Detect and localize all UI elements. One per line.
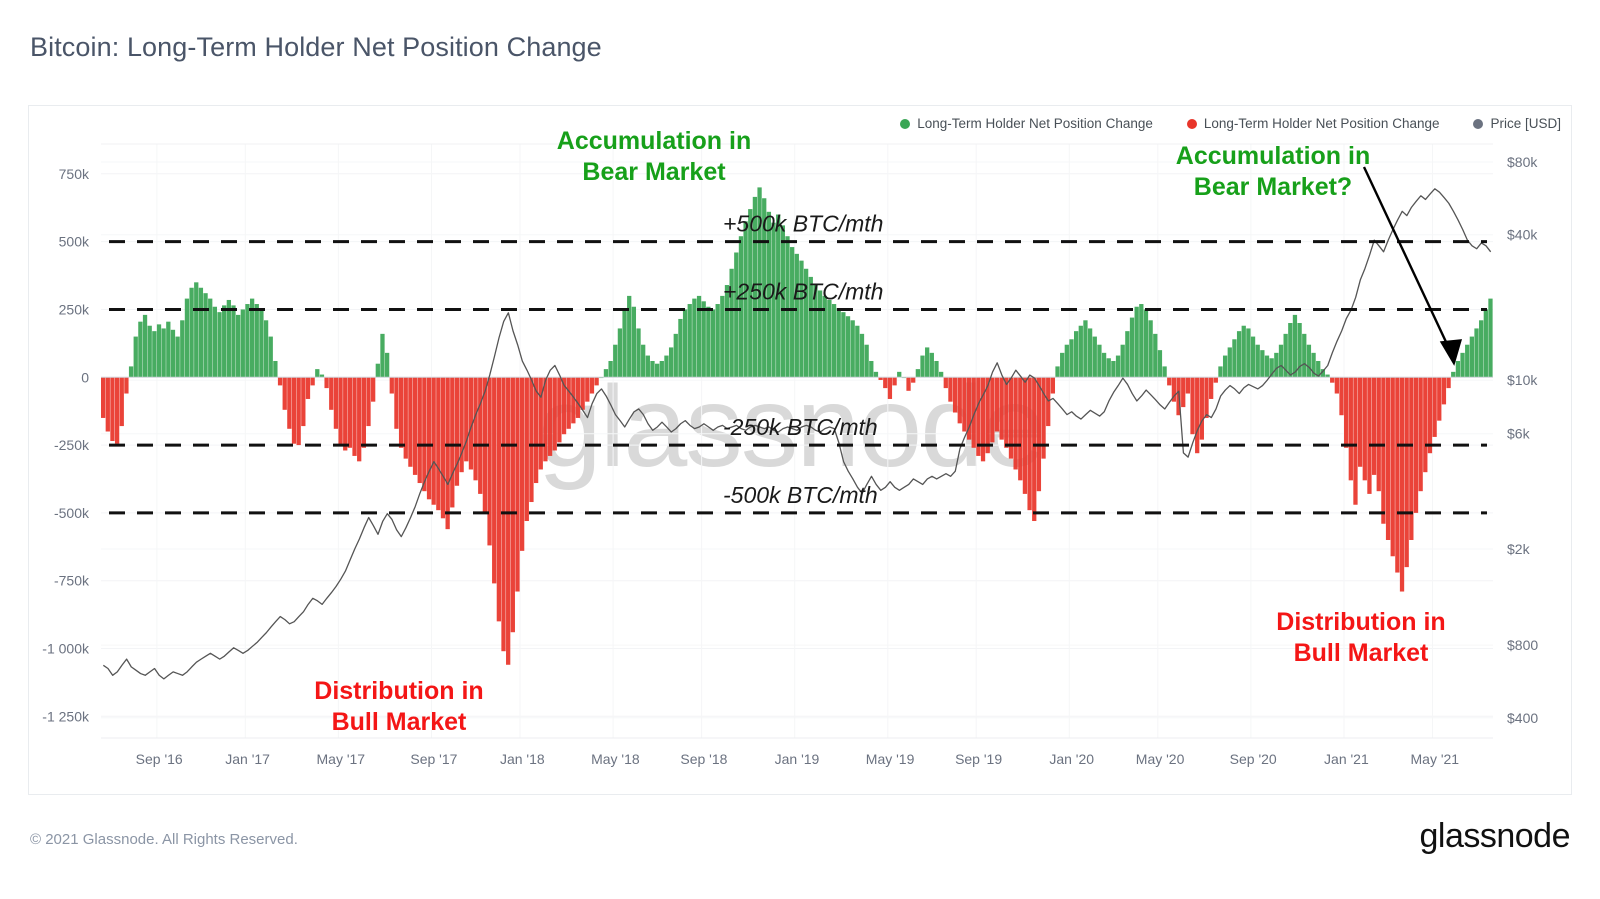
bar bbox=[418, 377, 422, 483]
x-axis-tick-label: May '17 bbox=[317, 751, 366, 767]
bar bbox=[464, 377, 468, 461]
bar bbox=[1181, 377, 1185, 407]
bar bbox=[259, 309, 263, 377]
bar bbox=[1111, 361, 1115, 377]
left-axis-tick-label: -250k bbox=[54, 437, 90, 453]
bar bbox=[529, 377, 533, 502]
annotation-line: Bull Market bbox=[1294, 639, 1429, 667]
bar bbox=[948, 377, 952, 401]
bar bbox=[795, 254, 799, 377]
bar bbox=[962, 377, 966, 431]
annotation-line: Bear Market bbox=[582, 158, 726, 186]
bar bbox=[1451, 372, 1455, 377]
bar bbox=[911, 377, 915, 382]
bar bbox=[278, 377, 282, 385]
bar bbox=[292, 377, 296, 443]
bar bbox=[706, 307, 710, 378]
bar bbox=[702, 301, 706, 377]
bar bbox=[1246, 328, 1250, 377]
level-label: +250k BTC/mth bbox=[723, 279, 883, 305]
bar bbox=[739, 236, 743, 377]
bar bbox=[227, 300, 231, 377]
annotation-arrow bbox=[1364, 167, 1461, 364]
bar bbox=[1442, 377, 1446, 404]
bar bbox=[357, 377, 361, 461]
bar bbox=[1405, 377, 1409, 567]
bar bbox=[1125, 331, 1129, 377]
x-axis-ticks: Sep '16Jan '17May '17Sep '17Jan '18May '… bbox=[136, 751, 1460, 767]
bar bbox=[1349, 377, 1353, 480]
bar bbox=[636, 328, 640, 377]
left-axis-tick-label: 500k bbox=[59, 234, 90, 250]
x-axis-tick-label: Jan '18 bbox=[500, 751, 545, 767]
bar bbox=[1419, 377, 1423, 491]
bar bbox=[390, 377, 394, 393]
bar bbox=[273, 361, 277, 377]
bar bbox=[1027, 377, 1031, 510]
bar bbox=[1344, 377, 1348, 448]
bar bbox=[1055, 366, 1059, 377]
bar bbox=[255, 304, 259, 377]
bar bbox=[352, 377, 356, 456]
bar bbox=[1051, 377, 1055, 393]
bar bbox=[827, 300, 831, 377]
x-axis-tick-label: Jan '19 bbox=[775, 751, 820, 767]
level-label: -250k BTC/mth bbox=[723, 414, 878, 440]
bar bbox=[297, 377, 301, 445]
bar bbox=[1013, 377, 1017, 469]
bar bbox=[1474, 328, 1478, 377]
bar bbox=[269, 337, 273, 378]
bar bbox=[1330, 377, 1334, 382]
bar bbox=[1307, 345, 1311, 378]
bar bbox=[487, 377, 491, 545]
bar bbox=[632, 307, 636, 378]
x-axis-tick-label: May '21 bbox=[1411, 751, 1460, 767]
bar bbox=[1083, 320, 1087, 377]
copyright-text: © 2021 Glassnode. All Rights Reserved. bbox=[30, 831, 298, 848]
bar bbox=[264, 320, 268, 377]
annotation-line: Bear Market? bbox=[1194, 173, 1352, 201]
bar bbox=[222, 305, 226, 377]
bar bbox=[1242, 326, 1246, 378]
bar bbox=[1232, 339, 1236, 377]
arrow-shaft bbox=[1364, 167, 1454, 359]
bar bbox=[1484, 309, 1488, 377]
bar bbox=[446, 377, 450, 529]
bar bbox=[1032, 377, 1036, 521]
bar bbox=[520, 377, 524, 551]
bar bbox=[134, 337, 138, 378]
bar bbox=[543, 377, 547, 461]
bar bbox=[124, 377, 128, 393]
bar bbox=[1423, 377, 1427, 472]
bar bbox=[478, 377, 482, 494]
bar bbox=[152, 331, 156, 377]
bar bbox=[1046, 377, 1050, 426]
bar bbox=[338, 377, 342, 445]
bar bbox=[1209, 377, 1213, 399]
bar bbox=[1446, 377, 1450, 388]
right-axis-tick-label: $800 bbox=[1507, 637, 1538, 653]
bar bbox=[394, 377, 398, 429]
left-axis-tick-label: 0 bbox=[81, 369, 89, 385]
right-axis-tick-label: $10k bbox=[1507, 372, 1538, 388]
bar bbox=[734, 252, 738, 377]
bar bbox=[958, 377, 962, 423]
bar bbox=[231, 305, 235, 377]
arrow-head bbox=[1441, 340, 1461, 364]
right-axis-tick-label: $6k bbox=[1507, 426, 1531, 442]
bar bbox=[245, 304, 249, 377]
bar bbox=[110, 377, 114, 441]
bar bbox=[897, 372, 901, 377]
bar bbox=[1097, 345, 1101, 378]
x-axis-tick-label: Jan '21 bbox=[1324, 751, 1369, 767]
bar bbox=[497, 377, 501, 621]
bar bbox=[576, 377, 580, 418]
bar bbox=[1004, 377, 1008, 448]
page-footer: © 2021 Glassnode. All Rights Reserved. g… bbox=[0, 795, 1600, 899]
x-axis-tick-label: Sep '20 bbox=[1230, 751, 1277, 767]
bar bbox=[1000, 377, 1004, 439]
bar bbox=[203, 293, 207, 377]
annotation-line: Accumulation in bbox=[557, 127, 751, 155]
bar bbox=[1363, 377, 1367, 480]
bar bbox=[557, 377, 561, 442]
bar bbox=[1060, 353, 1064, 377]
bar bbox=[1130, 318, 1134, 378]
bar bbox=[1432, 377, 1436, 437]
bar bbox=[283, 377, 287, 410]
bar bbox=[1223, 356, 1227, 378]
bar bbox=[1409, 377, 1413, 540]
bar bbox=[720, 296, 724, 377]
x-axis-tick-label: May '18 bbox=[591, 751, 640, 767]
bar bbox=[1251, 337, 1255, 378]
left-axis-ticks: 750k500k250k0-250k-500k-750k-1 000k-1 25… bbox=[42, 166, 90, 725]
bar bbox=[1353, 377, 1357, 504]
bar bbox=[1339, 377, 1343, 415]
bar bbox=[143, 315, 147, 377]
x-axis-tick-label: May '20 bbox=[1136, 751, 1185, 767]
chart-card: Long-Term Holder Net Position Change Lon… bbox=[28, 105, 1572, 795]
bar bbox=[301, 377, 305, 426]
bar bbox=[618, 328, 622, 377]
bar bbox=[148, 326, 152, 378]
bar bbox=[1428, 377, 1432, 453]
bar bbox=[981, 377, 985, 461]
bar bbox=[1288, 323, 1292, 377]
bar bbox=[422, 377, 426, 491]
bar bbox=[1195, 377, 1199, 453]
bar bbox=[180, 320, 184, 377]
bar bbox=[199, 288, 203, 378]
bar bbox=[101, 377, 105, 418]
bar bbox=[473, 377, 477, 480]
bar bbox=[1093, 337, 1097, 378]
bar bbox=[1107, 358, 1111, 377]
bar bbox=[362, 377, 366, 448]
bar bbox=[841, 312, 845, 377]
bar bbox=[511, 377, 515, 632]
x-axis-tick-label: Jan '20 bbox=[1049, 751, 1094, 767]
bar bbox=[995, 377, 999, 431]
bar bbox=[515, 377, 519, 591]
bar bbox=[1381, 377, 1385, 523]
bar bbox=[622, 309, 626, 377]
bar bbox=[716, 304, 720, 377]
bar bbox=[1395, 377, 1399, 572]
right-axis-tick-label: $80k bbox=[1507, 154, 1538, 170]
bar bbox=[1260, 350, 1264, 377]
bar bbox=[613, 345, 617, 378]
bar bbox=[953, 377, 957, 412]
bar bbox=[1018, 377, 1022, 480]
bar bbox=[1074, 331, 1078, 377]
bar bbox=[348, 377, 352, 448]
bar bbox=[1367, 377, 1371, 494]
bar bbox=[106, 377, 110, 431]
bar bbox=[1302, 334, 1306, 377]
bar bbox=[1335, 377, 1339, 393]
bar bbox=[236, 315, 240, 377]
bar bbox=[162, 328, 166, 377]
bar bbox=[315, 369, 319, 377]
brand-logo: glassnode bbox=[1419, 817, 1570, 856]
bar bbox=[930, 353, 934, 377]
bar bbox=[241, 309, 245, 377]
bar bbox=[1465, 345, 1469, 378]
bar bbox=[129, 366, 133, 377]
bar bbox=[1079, 326, 1083, 378]
bar bbox=[189, 288, 193, 378]
bar bbox=[213, 307, 217, 378]
bar bbox=[571, 377, 575, 423]
bar bbox=[380, 334, 384, 377]
bar bbox=[832, 304, 836, 377]
bar bbox=[641, 345, 645, 378]
bar bbox=[311, 377, 315, 385]
bar bbox=[608, 361, 612, 377]
bar bbox=[1065, 345, 1069, 378]
bar bbox=[1293, 315, 1297, 377]
annotation-line: Distribution in bbox=[314, 677, 483, 705]
bar bbox=[590, 377, 594, 393]
bar bbox=[925, 347, 929, 377]
bar bbox=[650, 361, 654, 377]
bar bbox=[990, 377, 994, 442]
bar bbox=[711, 309, 715, 377]
x-axis-tick-label: Sep '16 bbox=[136, 751, 183, 767]
bar bbox=[855, 326, 859, 378]
right-axis-tick-label: $400 bbox=[1507, 710, 1538, 726]
bar bbox=[329, 377, 333, 410]
right-axis-tick-label: $2k bbox=[1507, 541, 1531, 557]
bar bbox=[1437, 377, 1441, 420]
bar bbox=[655, 364, 659, 378]
bar bbox=[790, 247, 794, 377]
bar bbox=[548, 377, 552, 456]
x-axis-tick-label: Sep '19 bbox=[955, 751, 1002, 767]
bar bbox=[906, 377, 910, 391]
bar bbox=[920, 356, 924, 378]
bar bbox=[1186, 377, 1190, 393]
bar bbox=[851, 320, 855, 377]
chart-page: Bitcoin: Long-Term Holder Net Position C… bbox=[0, 0, 1600, 899]
bar bbox=[376, 364, 380, 378]
bar bbox=[1190, 377, 1194, 434]
bar bbox=[1256, 345, 1260, 378]
x-axis-tick-label: Sep '17 bbox=[410, 751, 457, 767]
bar bbox=[869, 361, 873, 377]
level-label: -500k BTC/mth bbox=[723, 482, 878, 508]
bar bbox=[860, 334, 864, 377]
right-axis-tick-label: $40k bbox=[1507, 227, 1538, 243]
x-axis-tick-label: Sep '18 bbox=[680, 751, 727, 767]
bar bbox=[874, 372, 878, 377]
bar bbox=[1218, 366, 1222, 377]
left-axis-tick-label: 250k bbox=[59, 302, 90, 318]
bar bbox=[678, 319, 682, 377]
bar bbox=[1139, 304, 1143, 377]
bar bbox=[1386, 377, 1390, 540]
bar bbox=[585, 377, 589, 401]
bar bbox=[194, 282, 198, 377]
x-axis-tick-label: May '19 bbox=[866, 751, 915, 767]
bar bbox=[1069, 339, 1073, 377]
page-title: Bitcoin: Long-Term Holder Net Position C… bbox=[30, 32, 602, 63]
bar bbox=[1162, 366, 1166, 377]
bar bbox=[1204, 377, 1208, 418]
bar bbox=[837, 308, 841, 377]
bar bbox=[436, 377, 440, 510]
bar bbox=[939, 372, 943, 377]
bar bbox=[1037, 377, 1041, 491]
bar bbox=[1265, 356, 1269, 378]
bar bbox=[604, 369, 608, 377]
x-axis-tick-label: Jan '17 bbox=[225, 751, 270, 767]
bar bbox=[1400, 377, 1404, 591]
bar bbox=[1135, 307, 1139, 378]
bar bbox=[664, 356, 668, 378]
bar bbox=[408, 377, 412, 467]
bar bbox=[683, 309, 687, 377]
bar bbox=[138, 322, 142, 378]
bar bbox=[1377, 377, 1381, 491]
bar bbox=[934, 361, 938, 377]
bar bbox=[1488, 299, 1492, 378]
bar bbox=[1167, 377, 1171, 385]
bar bbox=[506, 377, 510, 665]
bar bbox=[1372, 377, 1376, 475]
bar bbox=[366, 377, 370, 426]
bar bbox=[1200, 377, 1204, 439]
bar bbox=[217, 312, 221, 377]
bar bbox=[888, 377, 892, 399]
annotation-line: Distribution in bbox=[1276, 608, 1445, 636]
bar bbox=[306, 377, 310, 399]
bar bbox=[371, 377, 375, 401]
bar bbox=[166, 322, 170, 378]
right-axis-ticks: $80k$40k$10k$6k$2k$800$400 bbox=[1507, 154, 1538, 726]
bar bbox=[1144, 309, 1148, 377]
bar bbox=[660, 361, 664, 377]
bar bbox=[413, 377, 417, 475]
bar bbox=[581, 377, 585, 410]
bar bbox=[492, 377, 496, 583]
bar bbox=[120, 377, 124, 426]
bar bbox=[185, 299, 189, 378]
bar bbox=[427, 377, 431, 499]
bar bbox=[1102, 353, 1106, 377]
bar bbox=[432, 377, 436, 504]
bar bbox=[669, 347, 673, 377]
bar bbox=[171, 330, 175, 377]
level-label: +500k BTC/mth bbox=[723, 211, 883, 237]
bar bbox=[785, 236, 789, 377]
bar bbox=[846, 316, 850, 377]
bar bbox=[343, 377, 347, 450]
bar bbox=[1023, 377, 1027, 494]
bar bbox=[1414, 377, 1418, 513]
bar bbox=[157, 324, 161, 377]
bar bbox=[334, 377, 338, 429]
bar bbox=[1214, 377, 1218, 382]
bar bbox=[916, 369, 920, 377]
bar bbox=[1153, 334, 1157, 377]
bar bbox=[324, 377, 328, 388]
left-axis-tick-label: 750k bbox=[59, 166, 90, 182]
bar bbox=[1470, 337, 1474, 378]
bar bbox=[674, 334, 678, 377]
bar bbox=[892, 377, 896, 385]
bar bbox=[385, 353, 389, 377]
bar bbox=[883, 377, 887, 388]
bar bbox=[692, 299, 696, 378]
bar bbox=[1237, 331, 1241, 377]
bar bbox=[1121, 345, 1125, 378]
bar bbox=[1456, 361, 1460, 377]
bar bbox=[567, 377, 571, 429]
annotation-line: Accumulation in bbox=[1176, 142, 1370, 170]
annotation-line: Bull Market bbox=[332, 708, 467, 736]
bar bbox=[1279, 345, 1283, 378]
left-axis-tick-label: -1 000k bbox=[42, 641, 90, 657]
bar bbox=[1088, 328, 1092, 377]
bar bbox=[175, 337, 179, 378]
chart-plot: glassnode 750k500k250k0-250k-500k-750k-1… bbox=[29, 106, 1573, 796]
bar bbox=[399, 377, 403, 448]
bar bbox=[1228, 347, 1232, 377]
bar bbox=[1274, 353, 1278, 377]
bar bbox=[1358, 377, 1362, 467]
bar bbox=[944, 377, 948, 388]
bar bbox=[1148, 320, 1152, 377]
bar bbox=[865, 345, 869, 378]
bar bbox=[1460, 353, 1464, 377]
bar bbox=[594, 377, 598, 385]
bar bbox=[287, 377, 291, 429]
bar bbox=[450, 377, 454, 507]
bar bbox=[115, 377, 119, 443]
bar bbox=[646, 356, 650, 378]
bar bbox=[688, 304, 692, 377]
bar bbox=[525, 377, 529, 521]
left-axis-tick-label: -500k bbox=[54, 505, 90, 521]
bar bbox=[1391, 377, 1395, 556]
bar bbox=[1116, 356, 1120, 378]
